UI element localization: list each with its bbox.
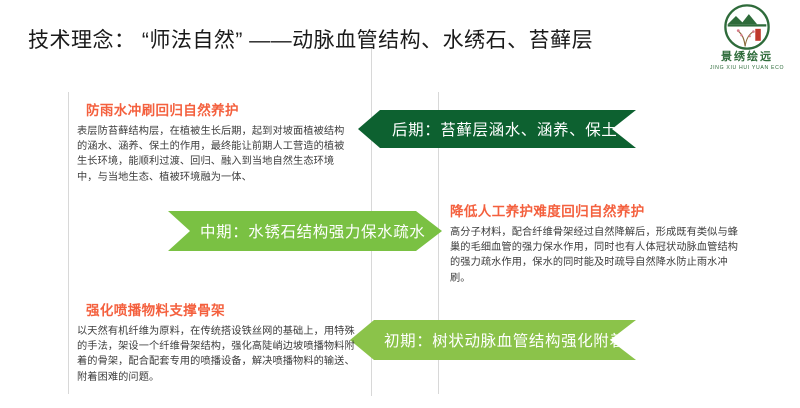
company-logo: 景绣绘远 JING XIU HUI YUAN ECO [708,4,786,78]
text-block-right-body: 高分子材料，配合纤维骨架经过自然降解后，形成既有类似与蜂巢的毛细血管的强力保水作… [450,225,742,286]
text-block-right: 降低人工养护难度回归自然养护 高分子材料，配合纤维骨架经过自然降解后，形成既有类… [450,203,742,286]
text-block-bottom-left: 强化喷播物料支撑骨架 以天然有机纤维为原料，在传统搭设铁丝网的基础上，用特殊的手… [77,302,355,385]
arrow-banner-late-stage[interactable]: 后期：苔藓层涵水、涵养、保土 [358,110,636,148]
logo-company-subtitle: JING XIU HUI YUAN ECO [703,64,790,72]
text-block-bottom-left-body: 以天然有机纤维为原料，在传统搭设铁丝网的基础上，用特殊的手法，架设一个纤维骨架结… [77,324,355,385]
text-block-top-left-heading: 防雨水冲刷回归自然养护 [77,102,345,120]
text-block-top-left-body: 表层防苔藓结构层，在植被生长后期，起到对坡面植被结构的涵水、涵养、保土的作用，最… [77,124,345,185]
slide-header: 技术理念： “师法自然” ——动脉血管结构、水绣石、苔藓层 景绣绘远 JING … [0,0,800,86]
arrow-banner-late-stage-label: 后期：苔藓层涵水、涵养、保土 [392,118,617,140]
page-title: 技术理念： “师法自然” ——动脉血管结构、水绣石、苔藓层 [28,26,593,56]
arrow-banner-mid-stage[interactable]: 中期：水锈石结构强力保水疏水 [168,211,442,251]
slide-canvas: 技术理念： “师法自然” ——动脉血管结构、水绣石、苔藓层 景绣绘远 JING … [0,0,800,408]
arrow-banner-early-stage-label: 初期：树状动脉血管结构强化附着 [384,329,626,351]
arrow-banner-mid-stage-label: 中期：水锈石结构强力保水疏水 [200,220,425,242]
guide-line-left [68,92,69,394]
text-block-right-heading: 降低人工养护难度回归自然养护 [450,203,742,221]
text-block-bottom-left-heading: 强化喷播物料支撑骨架 [77,302,355,320]
mountain-plant-emblem-icon [724,4,770,50]
arrow-banner-early-stage[interactable]: 初期：树状动脉血管结构强化附着 [350,320,636,360]
text-block-top-left: 防雨水冲刷回归自然养护 表层防苔藓结构层，在植被生长后期，起到对坡面植被结构的涵… [77,102,345,185]
logo-company-name: 景绣绘远 [708,51,786,64]
